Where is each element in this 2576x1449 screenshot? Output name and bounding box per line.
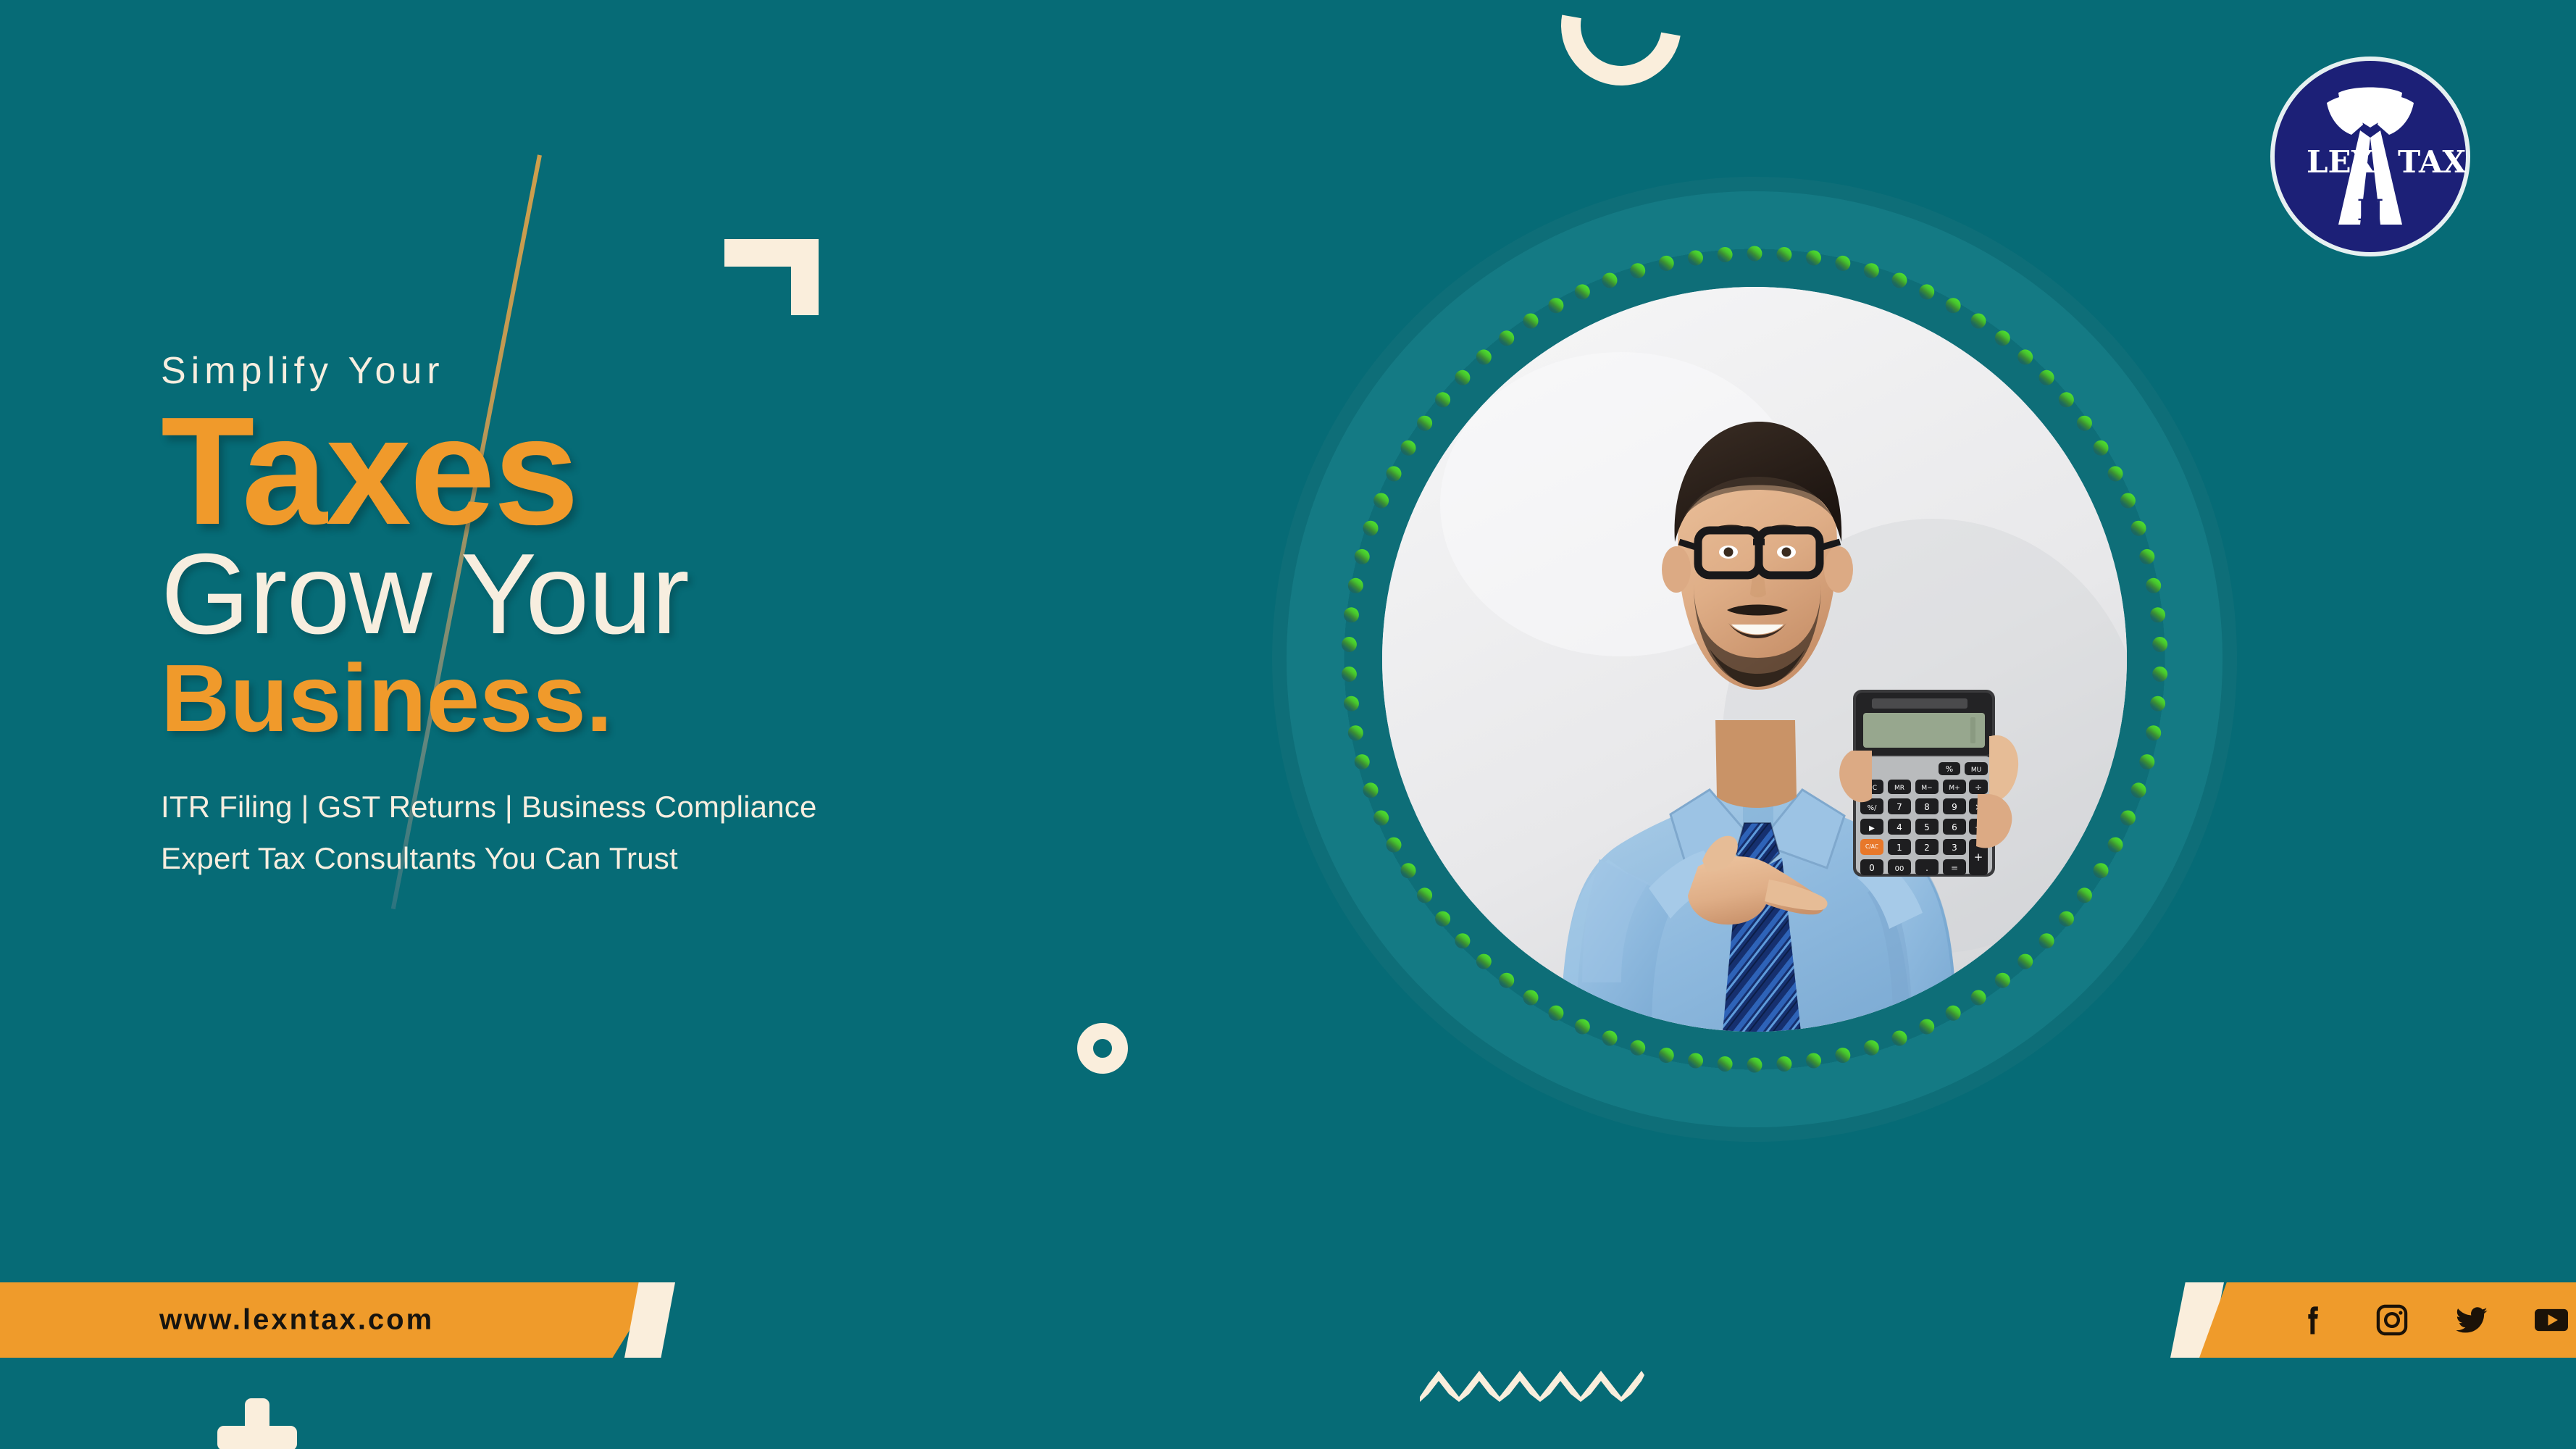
instagram-icon[interactable] [2373, 1301, 2411, 1339]
svg-text:6: 6 [1952, 822, 1957, 832]
brand-logo[interactable]: LEX TAX N [2266, 52, 2475, 261]
hero-photo: % MU MC MR M− [1382, 287, 2127, 1032]
plus-shape-icon [217, 1398, 297, 1449]
banner-canvas: Simplify Your Taxes Grow Your Business. … [0, 0, 2576, 1449]
svg-text:0: 0 [1869, 863, 1875, 873]
svg-text:00: 00 [1895, 865, 1904, 873]
headline-line-grow-your: Grow Your [161, 536, 1030, 653]
svg-text:2: 2 [1924, 843, 1930, 853]
svg-text:1: 1 [1897, 843, 1902, 853]
headline-line-taxes: Taxes [161, 396, 1030, 546]
svg-text:9: 9 [1952, 802, 1957, 812]
svg-text:÷: ÷ [1975, 782, 1982, 793]
svg-text:LEX: LEX [2307, 144, 2375, 180]
website-url[interactable]: www.lexntax.com [159, 1304, 434, 1337]
svg-text:C/AC: C/AC [1865, 843, 1878, 850]
partial-ring-arc-icon [1537, 0, 1705, 109]
services-line: ITR Filing | GST Returns | Business Comp… [161, 790, 1030, 824]
svg-text:5: 5 [1924, 822, 1930, 832]
svg-text:7: 7 [1897, 802, 1902, 812]
subtext-block: ITR Filing | GST Returns | Business Comp… [161, 790, 1030, 875]
social-bar [2199, 1282, 2576, 1358]
twitter-icon[interactable] [2453, 1301, 2491, 1339]
svg-text:MR: MR [1894, 785, 1904, 792]
headline-block: Simplify Your Taxes Grow Your Business. … [161, 352, 1030, 893]
svg-text:TAX: TAX [2398, 144, 2467, 180]
outline-circle-icon [1077, 1023, 1128, 1074]
svg-text:M−: M− [1921, 785, 1932, 792]
svg-text:%/: %/ [1868, 804, 1878, 812]
svg-text:8: 8 [1924, 802, 1930, 812]
hero-circle: % MU MC MR M− [1240, 145, 2269, 1174]
website-bar[interactable]: www.lexntax.com [0, 1282, 659, 1358]
svg-text:=: = [1951, 863, 1958, 873]
svg-text:.: . [1925, 863, 1928, 873]
tagline-line: Expert Tax Consultants You Can Trust [161, 841, 1030, 875]
corner-bracket-icon [724, 239, 819, 315]
zigzag-chevron-icon [1420, 1362, 1644, 1402]
svg-text:MU: MU [1971, 767, 1981, 774]
facebook-icon[interactable] [2293, 1301, 2331, 1339]
svg-text:▶: ▶ [1869, 824, 1875, 832]
svg-text:M+: M+ [1949, 785, 1960, 792]
youtube-icon[interactable] [2533, 1301, 2570, 1339]
svg-text:+: + [1974, 851, 1983, 864]
svg-text:%: % [1946, 764, 1953, 774]
svg-text:4: 4 [1897, 822, 1902, 832]
headline-line-business: Business. [161, 648, 1030, 749]
svg-text:3: 3 [1952, 843, 1957, 853]
svg-text:N: N [2357, 193, 2384, 227]
